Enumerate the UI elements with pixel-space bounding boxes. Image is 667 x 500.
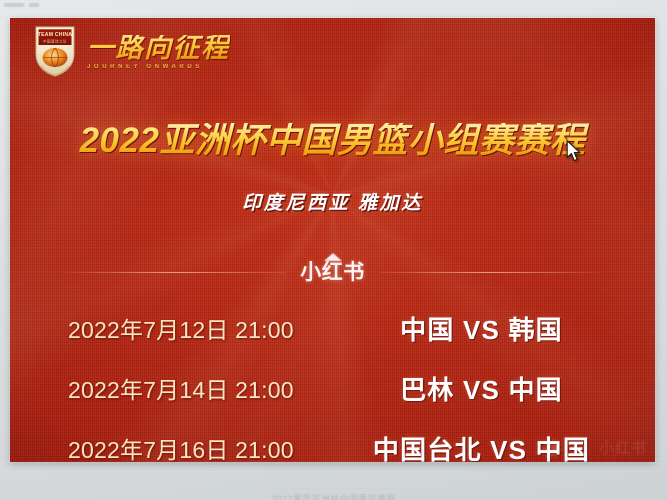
schedule-row-match: 巴林 VS 中国 bbox=[354, 377, 609, 403]
chrome-ghost-bar-2 bbox=[29, 3, 39, 7]
watermark-label: 小红书 bbox=[300, 261, 365, 284]
chrome-ghost-bar-1 bbox=[4, 3, 24, 7]
page-title: 2022亚洲杯中国男篮小组赛赛程 bbox=[10, 123, 655, 158]
brand-title-en: JOURNEY ONWARDS bbox=[87, 64, 230, 70]
poster-content: TEAM CHINA 中国篮球之队 一路向征程 JOURNEY ONWARDS bbox=[10, 18, 655, 462]
schedule-row-match: 中国台北 VS 中国 bbox=[354, 437, 609, 462]
schedule-row-match: 中国 VS 韩国 bbox=[354, 317, 609, 343]
schedule-poster: TEAM CHINA 中国篮球之队 一路向征程 JOURNEY ONWARDS bbox=[10, 18, 655, 462]
schedule-row-date: 2022年7月16日 21:00 bbox=[68, 439, 354, 462]
screen-surface: TEAM CHINA 中国篮球之队 一路向征程 JOURNEY ONWARDS bbox=[0, 0, 667, 500]
schedule-row-date: 2022年7月14日 21:00 bbox=[68, 379, 354, 402]
corner-watermark-label: 小红书 bbox=[599, 437, 647, 458]
schedule-row: 2022年7月12日 21:00 中国 VS 韩国 bbox=[10, 300, 655, 360]
divider-line-left bbox=[65, 272, 286, 273]
bottom-caption: 2022男篮亚洲杯中国男篮赛程 bbox=[0, 492, 667, 500]
brand-block: 一路向征程 JOURNEY ONWARDS bbox=[87, 33, 230, 70]
poster-header: TEAM CHINA 中国篮球之队 一路向征程 JOURNEY ONWARDS bbox=[32, 24, 230, 78]
divider: 小红书 bbox=[65, 257, 600, 287]
svg-text:TEAM CHINA: TEAM CHINA bbox=[38, 32, 73, 38]
svg-text:中国篮球之队: 中国篮球之队 bbox=[43, 38, 67, 43]
watermark-xiaohongshu: 小红书 bbox=[300, 262, 365, 283]
brand-title-cn: 一路向征程 bbox=[87, 35, 230, 62]
window-chrome-ghost bbox=[4, 1, 90, 8]
schedule-list: 2022年7月12日 21:00 中国 VS 韩国 2022年7月14日 21:… bbox=[10, 300, 655, 462]
divider-line-right bbox=[379, 272, 600, 273]
team-china-shield-badge-icon: TEAM CHINA 中国篮球之队 bbox=[32, 24, 78, 78]
sunburst-icon bbox=[541, 439, 563, 459]
schedule-row: 2022年7月14日 21:00 巴林 VS 中国 bbox=[10, 360, 655, 420]
venue-subtitle: 印度尼西亚 雅加达 bbox=[10, 194, 655, 213]
roof-triangle-icon bbox=[324, 253, 342, 261]
schedule-row-date: 2022年7月12日 21:00 bbox=[68, 319, 354, 342]
